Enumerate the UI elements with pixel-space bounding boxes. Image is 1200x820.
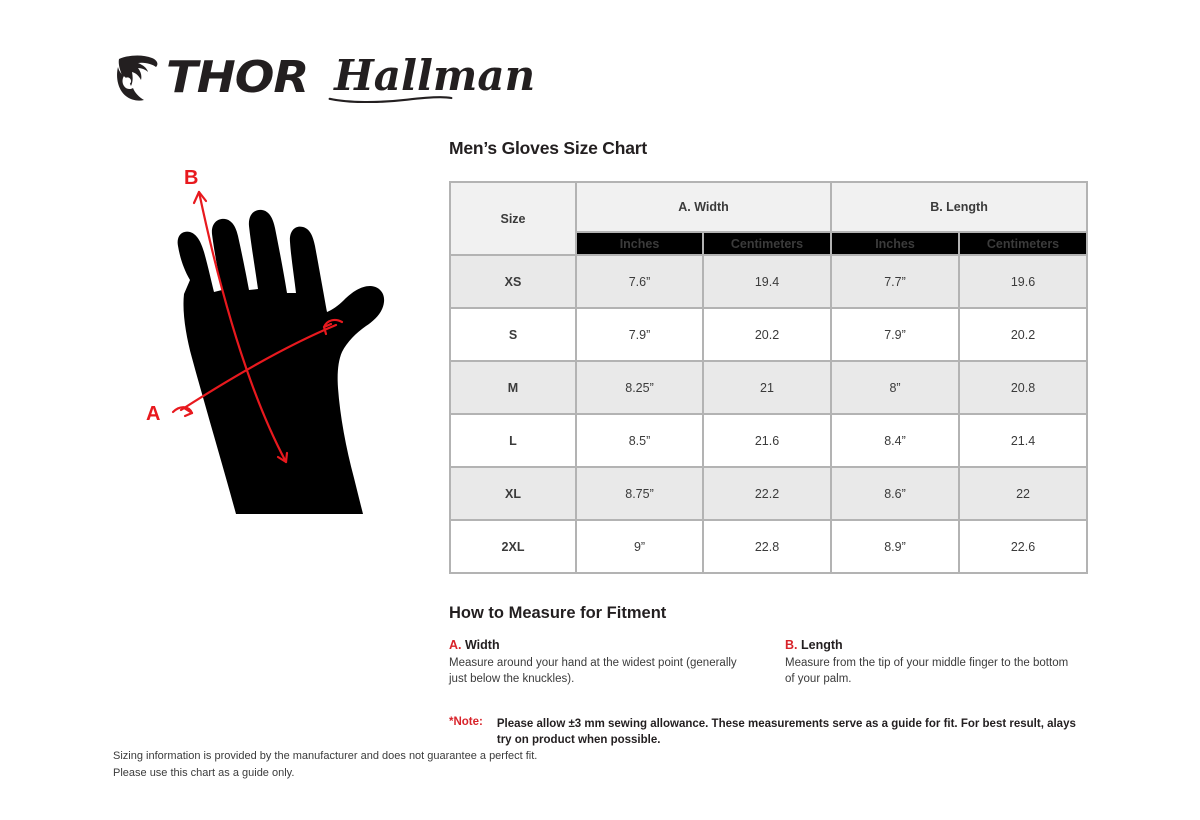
size-chart-table: Size A. Width B. Length Inches Centimete… xyxy=(449,181,1088,574)
column-header-length-centimeters: Centimeters xyxy=(960,233,1088,256)
main-content: Men’s Gloves Size Chart Size A. Width B.… xyxy=(449,138,1089,749)
diagram-label-a: A xyxy=(146,403,160,425)
how-to-measure-title: How to Measure for Fitment xyxy=(449,604,1089,623)
measure-item-length: B. Length Measure from the tip of your m… xyxy=(785,638,1077,688)
cell-length-inches: 7.9” xyxy=(832,309,960,362)
cell-length-inches: 8.9” xyxy=(832,521,960,574)
cell-width-inches: 8.75” xyxy=(577,468,704,521)
column-header-length: B. Length xyxy=(832,183,1088,233)
thor-logo: THOR xyxy=(112,53,300,103)
table-header-row-groups: Size A. Width B. Length xyxy=(451,183,1088,233)
cell-length-centimeters: 22.6 xyxy=(960,521,1088,574)
measure-item-description: Measure from the tip of your middle fing… xyxy=(785,655,1077,688)
measure-item-name: Width xyxy=(465,638,500,652)
hand-silhouette-icon xyxy=(178,210,384,514)
note-label: *Note: xyxy=(449,716,483,749)
cell-width-inches: 8.5” xyxy=(577,415,704,468)
table-row: XS 7.6” 19.4 7.7” 19.6 xyxy=(451,256,1088,309)
measure-item-letter: B. xyxy=(785,638,798,652)
cell-width-inches: 9” xyxy=(577,521,704,574)
cell-length-centimeters: 21.4 xyxy=(960,415,1088,468)
cell-length-inches: 8” xyxy=(832,362,960,415)
cell-size: XS xyxy=(451,256,577,309)
footer-disclaimer: Sizing information is provided by the ma… xyxy=(113,748,537,782)
cell-size: 2XL xyxy=(451,521,577,574)
cell-width-centimeters: 21.6 xyxy=(704,415,832,468)
cell-width-inches: 7.9” xyxy=(577,309,704,362)
table-row: XL 8.75” 22.2 8.6” 22 xyxy=(451,468,1088,521)
cell-width-centimeters: 20.2 xyxy=(704,309,832,362)
hand-measurement-diagram: B A xyxy=(118,162,428,542)
brand-logo-bar: THOR Hallman xyxy=(112,48,535,108)
column-header-width: A. Width xyxy=(577,183,832,233)
table-row: 2XL 9” 22.8 8.9” 22.6 xyxy=(451,521,1088,574)
table-row: M 8.25” 21 8” 20.8 xyxy=(451,362,1088,415)
cell-length-centimeters: 20.2 xyxy=(960,309,1088,362)
cell-width-centimeters: 19.4 xyxy=(704,256,832,309)
note-text: Please allow ±3 mm sewing allowance. The… xyxy=(497,716,1087,749)
diagram-label-b: B xyxy=(184,167,198,189)
thor-wordmark: THOR xyxy=(166,56,308,100)
column-header-width-inches: Inches xyxy=(577,233,704,256)
cell-size: S xyxy=(451,309,577,362)
cell-size: M xyxy=(451,362,577,415)
measure-item-width: A. Width Measure around your hand at the… xyxy=(449,638,741,688)
cell-size: L xyxy=(451,415,577,468)
measure-item-heading: B. Length xyxy=(785,638,1077,652)
cell-length-inches: 7.7” xyxy=(832,256,960,309)
table-row: L 8.5” 21.6 8.4” 21.4 xyxy=(451,415,1088,468)
measure-item-description: Measure around your hand at the widest p… xyxy=(449,655,741,688)
measure-item-heading: A. Width xyxy=(449,638,741,652)
hallman-flourish-icon xyxy=(328,93,453,103)
cell-length-centimeters: 20.8 xyxy=(960,362,1088,415)
cell-width-centimeters: 22.8 xyxy=(704,521,832,574)
column-header-length-inches: Inches xyxy=(832,233,960,256)
cell-length-inches: 8.6” xyxy=(832,468,960,521)
how-to-measure-section: How to Measure for Fitment A. Width Meas… xyxy=(449,604,1089,688)
helmet-icon xyxy=(112,53,164,103)
cell-length-centimeters: 22 xyxy=(960,468,1088,521)
cell-width-inches: 8.25” xyxy=(577,362,704,415)
cell-width-inches: 7.6” xyxy=(577,256,704,309)
hallman-logo: Hallman xyxy=(334,55,535,101)
page-title: Men’s Gloves Size Chart xyxy=(449,138,1089,159)
table-row: S 7.9” 20.2 7.9” 20.2 xyxy=(451,309,1088,362)
cell-width-centimeters: 22.2 xyxy=(704,468,832,521)
column-header-size: Size xyxy=(451,183,577,256)
cell-length-centimeters: 19.6 xyxy=(960,256,1088,309)
cell-width-centimeters: 21 xyxy=(704,362,832,415)
measure-item-name: Length xyxy=(801,638,843,652)
column-header-width-centimeters: Centimeters xyxy=(704,233,832,256)
cell-length-inches: 8.4” xyxy=(832,415,960,468)
measure-item-letter: A. xyxy=(449,638,462,652)
footer-line-2: Please use this chart as a guide only. xyxy=(113,765,537,782)
footer-line-1: Sizing information is provided by the ma… xyxy=(113,748,537,765)
note-section: *Note: Please allow ±3 mm sewing allowan… xyxy=(449,716,1089,749)
cell-size: XL xyxy=(451,468,577,521)
